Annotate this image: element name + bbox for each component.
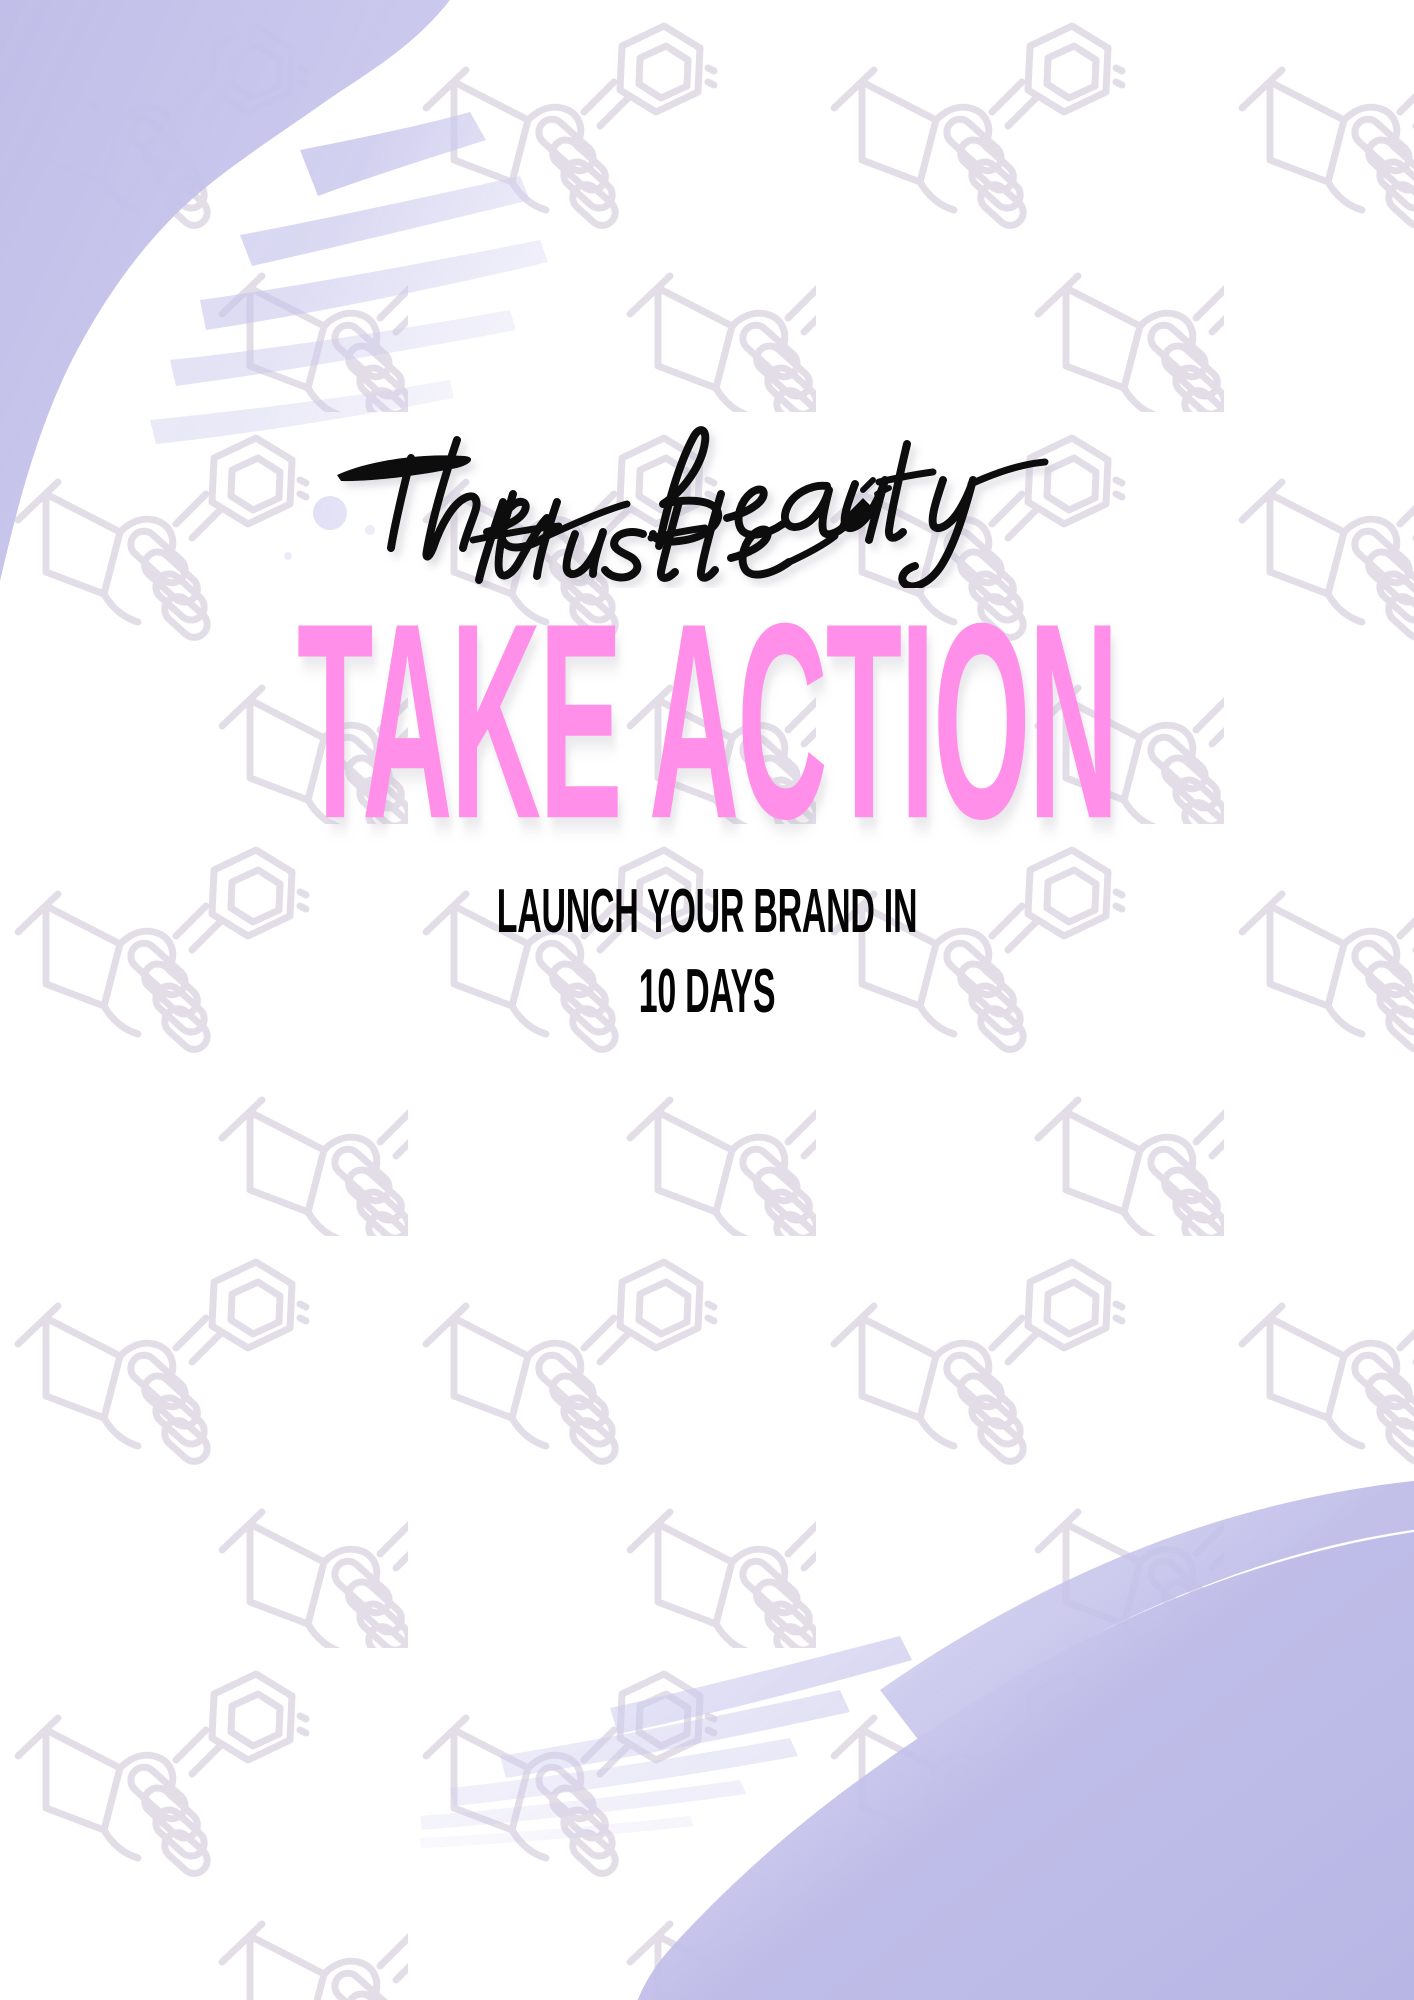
brand-script-logo: The Beauty Hustle — [0, 398, 1414, 588]
subtitle-block: LAUNCH YOUR BRAND IN 10 DAYS — [0, 872, 1414, 1032]
headline-take-action: TAKE ACTION TAKE ACTION — [0, 576, 1414, 856]
headline-svg: TAKE ACTION TAKE ACTION — [192, 576, 1222, 856]
subtitle-line-1: LAUNCH YOUR BRAND IN — [320, 872, 1095, 952]
poster-content: The Beauty Hustle — [0, 0, 1414, 2000]
brand-script-logo-svg: The Beauty Hustle — [307, 398, 1107, 588]
subtitle-line-2: 10 DAYS — [320, 952, 1095, 1032]
headline-text: TAKE ACTION — [297, 576, 1117, 856]
poster-canvas: The Beauty Hustle — [0, 0, 1414, 2000]
